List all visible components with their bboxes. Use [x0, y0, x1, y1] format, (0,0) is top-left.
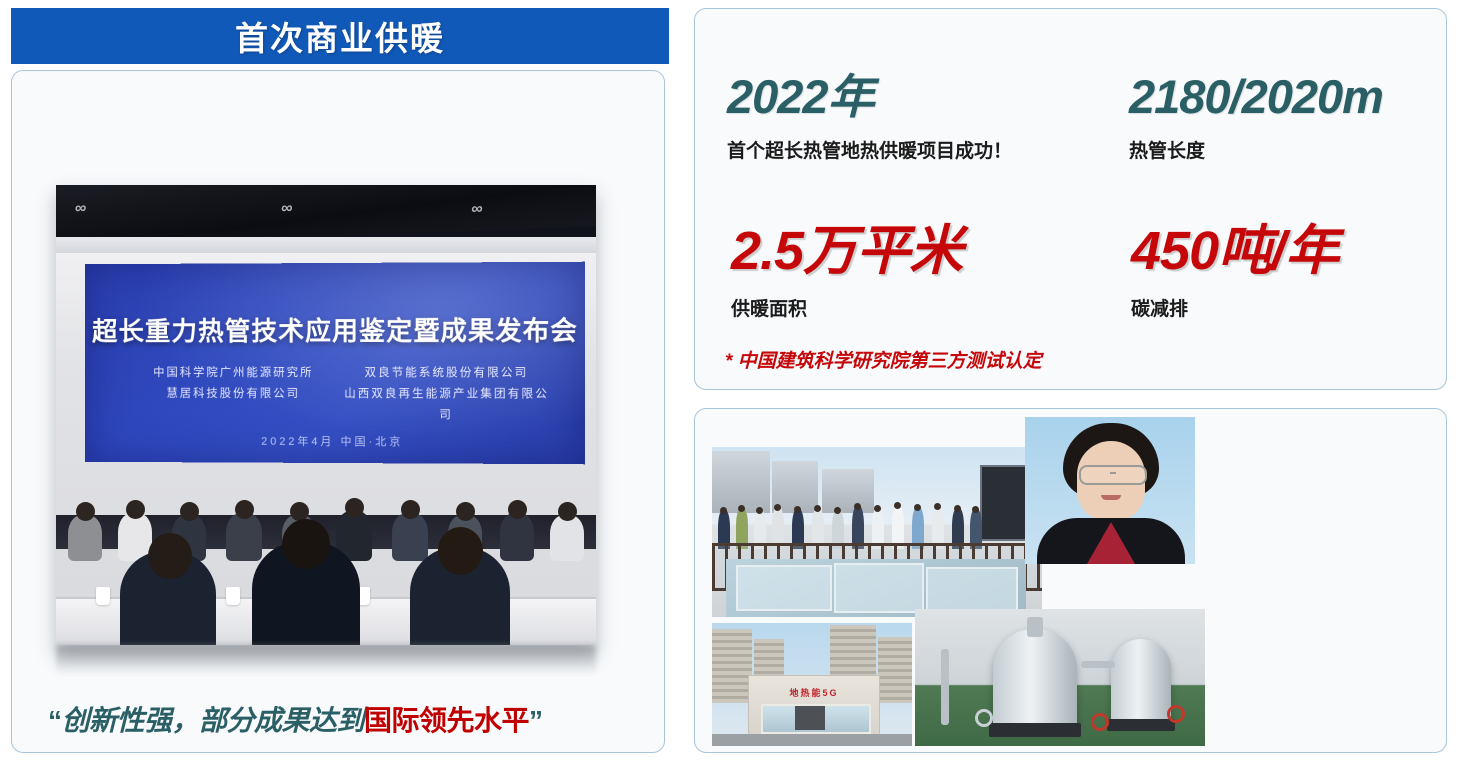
station-sign-text: 地热能5G — [749, 686, 879, 699]
stat-value: 2.5万平米 — [731, 224, 962, 278]
stat-value: 2180/2020m — [1129, 73, 1383, 120]
geothermal-station-photo: 地热能5G — [712, 623, 912, 746]
slide-root: 首次商业供暖 ∞ ∞ ∞ 超长重力热管技术应用鉴定暨成果发布会 中国科学院广州能… — [0, 0, 1457, 765]
ceiling-logo-icon: ∞ — [74, 200, 87, 218]
stat-label: 首个超长热管地热供暖项目成功！ — [727, 136, 1012, 163]
ceiling-logo-icon: ∞ — [471, 200, 484, 218]
organization-name: 双良节能系统股份有限公司 — [339, 363, 554, 384]
organization-name: 山西双良再生能源产业集团有限公司 — [339, 384, 554, 427]
stat-item-heating-area: 2.5万平米 供暖面积 — [731, 224, 962, 321]
photo-drop-shadow — [56, 645, 596, 675]
page-title: 首次商业供暖 — [235, 12, 445, 60]
stat-item-carbon-reduction: 450吨/年 碳减排 — [1131, 224, 1338, 321]
photos-panel: 地热能5G 政协副主席(前) 李斌 莅临参观指导 — [694, 408, 1447, 753]
led-backdrop: 超长重力热管技术应用鉴定暨成果发布会 中国科学院广州能源研究所 双良节能系统股份… — [85, 262, 585, 465]
official-portrait-photo — [1025, 417, 1195, 564]
stat-value: 2022年 — [727, 73, 1012, 120]
delegation-visit-photo — [712, 447, 1042, 617]
quote-text: 创新性强，部分成果达到 — [62, 705, 365, 736]
stat-label: 碳减排 — [1131, 294, 1338, 321]
left-content-panel: ∞ ∞ ∞ 超长重力热管技术应用鉴定暨成果发布会 中国科学院广州能源研究所 双良… — [11, 70, 665, 753]
stats-panel: 2022年 首个超长热管地热供暖项目成功！ 2180/2020m 热管长度 2.… — [694, 8, 1447, 390]
organization-name: 慧居科技股份有限公司 — [128, 384, 339, 426]
conference-photo: ∞ ∞ ∞ 超长重力热管技术应用鉴定暨成果发布会 中国科学院广州能源研究所 双良… — [56, 185, 596, 645]
backdrop-headline: 超长重力热管技术应用鉴定暨成果发布会 — [85, 310, 585, 348]
stat-item-year: 2022年 首个超长热管地热供暖项目成功！ — [727, 73, 1012, 163]
station-building: 地热能5G — [748, 675, 880, 743]
eyeglasses-icon — [1079, 465, 1147, 485]
stat-item-pipe-length: 2180/2020m 热管长度 — [1129, 73, 1383, 163]
equipment-room-photo — [915, 609, 1205, 746]
organization-name: 中国科学院广州能源研究所 — [128, 363, 339, 384]
expert-quote: “创新性强，部分成果达到国际领先水平” — [48, 699, 648, 739]
ceiling-logo-icon: ∞ — [280, 200, 293, 218]
stats-footnote: * 中国建筑科学研究院第三方测试认定 — [725, 346, 1042, 373]
quote-highlight: 国际领先水平 — [364, 705, 529, 736]
quote-open-mark: “ — [48, 705, 62, 736]
stat-label: 供暖面积 — [731, 294, 962, 321]
left-column: 首次商业供暖 ∞ ∞ ∞ 超长重力热管技术应用鉴定暨成果发布会 中国科学院广州能… — [11, 8, 669, 753]
foreground-attendees — [56, 527, 596, 645]
quote-close-mark: ” — [529, 705, 543, 736]
backdrop-organizations: 中国科学院广州能源研究所 双良节能系统股份有限公司 慧居科技股份有限公司 山西双… — [128, 363, 554, 427]
stat-value: 450吨/年 — [1131, 224, 1338, 278]
stat-label: 热管长度 — [1129, 136, 1383, 163]
section-title-banner: 首次商业供暖 — [11, 8, 669, 64]
